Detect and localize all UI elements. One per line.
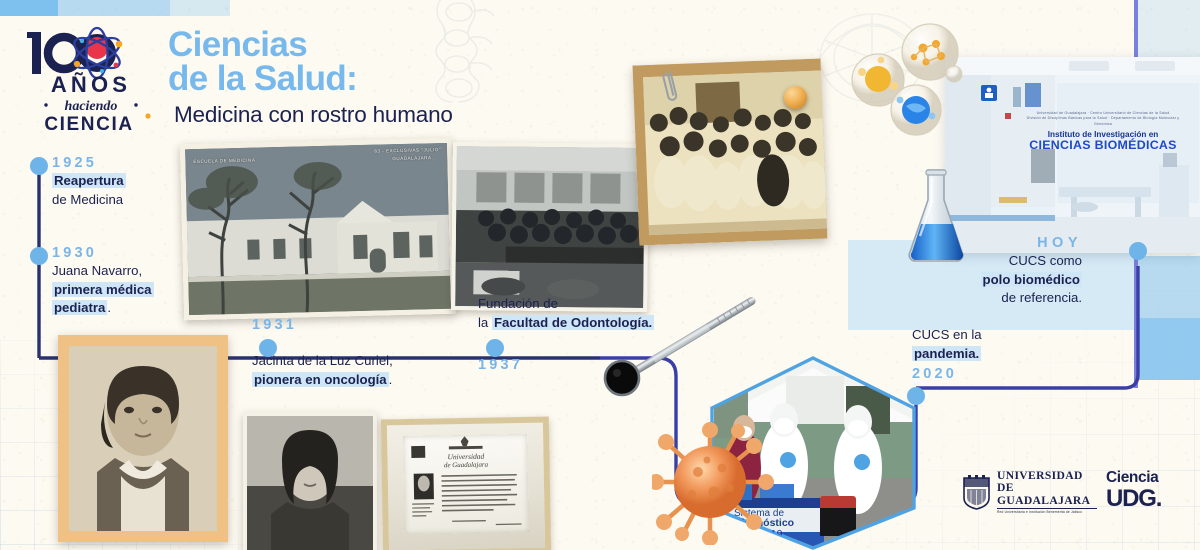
diploma-inner-page: Universidad de Guadalajara: [403, 434, 529, 534]
entry-1937-line-2: la Facultad de Odontología.: [478, 314, 654, 333]
lab-sign-small-2: División de Disciplinas Básicas para la …: [1018, 116, 1188, 127]
logo-anos-text: AÑOS: [51, 72, 131, 97]
molecule-bubbles-icon: [848, 22, 973, 140]
photo-classroom: [451, 142, 649, 312]
decorative-block-3: [170, 0, 230, 16]
svg-text:Universidad: Universidad: [447, 452, 484, 462]
subtitle: Medicina con rostro humano: [174, 102, 453, 128]
entry-2020-line-2: pandemia.: [912, 345, 982, 364]
timeline-entry-1937: Fundación de la Facultad de Odontología.…: [478, 295, 654, 374]
timeline-entry-hoy: HOY CUCS como polo biomédico de referenc…: [981, 236, 1082, 308]
school-caption-right-2: GUADALAJARA.: [392, 155, 433, 161]
logo-ciencia-text: CIENCIA: [44, 114, 133, 135]
title-line-1: Ciencias: [168, 28, 453, 62]
entry-hoy-highlight: polo biomédico: [981, 272, 1082, 287]
photo-instituto-ciencias-biomedicas: Universidad de Guadalajara · Centro Univ…: [945, 57, 1200, 253]
entry-hoy-line-3: de referencia.: [981, 289, 1082, 308]
decorative-block-right-1: [1138, 0, 1200, 60]
photo-juana-navarro-portrait: [58, 335, 228, 542]
entry-1930-line-1: Juana Navarro,: [52, 262, 154, 281]
entry-1931-line-2: pionera en oncología.: [252, 371, 393, 390]
entry-2020-highlight: pandemia.: [912, 346, 981, 361]
entry-1930-line-2: primera médica: [52, 281, 154, 300]
photo-escuela-de-medicina: ESCUELA DE MEDICINA 83 - EXCLUSIVAS "JUL…: [180, 138, 456, 321]
entry-1925-line-2: de Medicina: [52, 191, 126, 210]
entry-hoy-line-2: polo biomédico: [981, 271, 1082, 290]
photo-jacinta-curiel-portrait: [243, 412, 377, 550]
decorative-block-right-4: [1138, 318, 1200, 380]
decorative-block-right-3: [1138, 256, 1200, 318]
universidad-de-guadalajara-logo: UNIVERSIDAD DE GUADALAJARA Red Universit…: [962, 472, 1097, 512]
udg-line-2: GUADALAJARA: [997, 495, 1097, 507]
entry-1937-line-1: Fundación de: [478, 295, 654, 314]
photo-diploma-document: Universidad de Guadalajara: [381, 417, 551, 550]
entry-hoy-line-1: CUCS como: [981, 252, 1082, 271]
entry-1925-line-1: Reapertura: [52, 172, 126, 191]
lab-sign-line-2: CIENCIAS BIOMÉDICAS: [1018, 139, 1188, 153]
timeline-entry-2020: CUCS en la pandemia. 2020: [912, 326, 982, 383]
entry-1931-tail: .: [389, 372, 393, 387]
entry-1925-highlight: Reapertura: [52, 173, 126, 188]
entry-1931-line-1: Jacinta de la Luz Curiel,: [252, 352, 393, 371]
udg-wordmark: UNIVERSIDAD DE GUADALAJARA Red Universit…: [997, 470, 1097, 514]
coronavirus-icon: [652, 420, 774, 545]
ciencia-udg-line-1: Ciencia: [1106, 470, 1161, 486]
entry-1937-lead: la: [478, 315, 492, 330]
udg-shield-icon: [962, 475, 991, 510]
timeline-entry-1931: 1931 Jacinta de la Luz Curiel, pionera e…: [252, 318, 393, 389]
svg-text:de Guadalajara: de Guadalajara: [444, 462, 489, 470]
timeline-entry-1930: 1930 Juana Navarro, primera médica pedia…: [52, 246, 154, 318]
entry-1930-highlight-1: primera médica: [52, 282, 154, 297]
udg-line-1: UNIVERSIDAD DE: [997, 470, 1097, 495]
infographic-canvas: AÑOS haciendo CIENCIA Ciencias de la Sal…: [0, 0, 1200, 550]
year-hoy: HOY: [981, 236, 1082, 252]
decorative-block-2: [58, 0, 170, 16]
entry-2020-line-1: CUCS en la: [912, 326, 982, 345]
lab-sign: Universidad de Guadalajara · Centro Univ…: [1018, 111, 1188, 153]
timeline-entry-1925: 1925 Reapertura de Medicina: [52, 156, 126, 209]
udg-tagline: Red Universitaria e Institución Beneméri…: [997, 508, 1097, 514]
entry-1930-highlight-2: pediatra: [52, 300, 107, 315]
title-line-2: de la Salud:: [168, 62, 453, 96]
decorative-block-1: [0, 0, 58, 16]
year-2020: 2020: [912, 367, 982, 383]
entry-1930-tail: .: [107, 300, 111, 315]
entry-1931-highlight: pionera en oncología: [252, 372, 389, 387]
logo-haciendo-text: haciendo: [65, 99, 118, 114]
year-1925: 1925: [52, 156, 126, 172]
entry-1937-highlight: Facultad de Odontología.: [492, 315, 654, 330]
year-1930: 1930: [52, 246, 154, 262]
ciencia-udg-logo: Ciencia UDG.: [1106, 470, 1161, 511]
ciencia-udg-line-2: UDG.: [1106, 487, 1161, 511]
100-anos-haciendo-ciencia-logo: AÑOS haciendo CIENCIA: [24, 24, 159, 136]
year-1937: 1937: [478, 358, 654, 374]
page-title: Ciencias de la Salud: Medicina con rostr…: [168, 28, 453, 128]
year-1931: 1931: [252, 318, 393, 334]
push-pin-icon: [784, 86, 807, 109]
erlenmeyer-flask-icon: [905, 168, 971, 264]
entry-1930-line-3: pediatra.: [52, 299, 154, 318]
